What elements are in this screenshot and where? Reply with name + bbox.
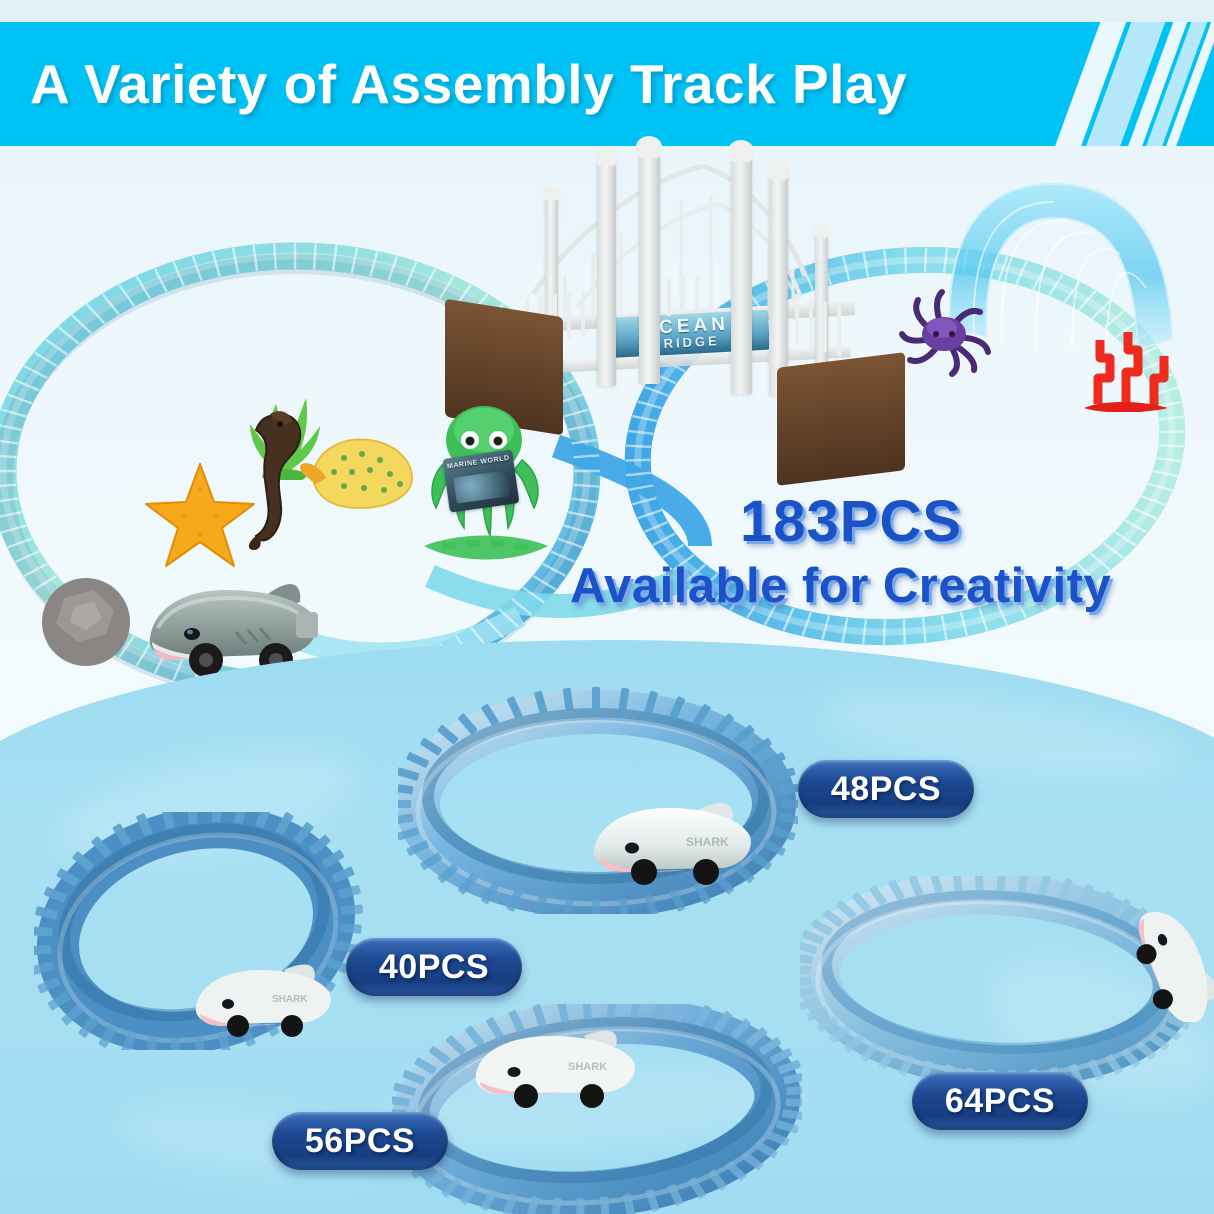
loop-64-shark-car — [1100, 902, 1214, 1022]
badge-40pcs-label: 40PCS — [379, 948, 489, 987]
loop-56-shark-decal: SHARK — [568, 1061, 607, 1073]
loop-56-shark-shape: SHARK — [468, 1022, 648, 1110]
loop-40-shark-car: SHARK — [188, 956, 338, 1038]
starfish-shape — [142, 460, 258, 572]
promo-piece-count: 183PCS — [740, 488, 962, 555]
ocean-bridge: OCEAN BRIDGE — [505, 148, 865, 448]
top-edge-strip — [0, 0, 1214, 22]
red-coral-figure — [1076, 322, 1178, 412]
promo-subtitle: Available for Creativity — [570, 558, 1111, 614]
loop-40-shark-shape: SHARK — [188, 956, 338, 1038]
badge-56pcs[interactable]: 56PCS — [272, 1112, 448, 1170]
green-octopus-figure: MARINE WORLD — [418, 396, 554, 574]
badge-64pcs-label: 64PCS — [945, 1082, 1055, 1121]
loop-56-shark-car: SHARK — [468, 1022, 648, 1110]
badge-40pcs[interactable]: 40PCS — [346, 938, 522, 996]
loop-48-shark-car: SHARK — [586, 794, 762, 886]
badge-64pcs[interactable]: 64PCS — [912, 1072, 1088, 1130]
loop-48-shark-decal: SHARK — [686, 835, 729, 849]
loop-64-shark-shape — [1100, 902, 1214, 1022]
loop-48-shark-shape: SHARK — [586, 794, 762, 886]
starfish-figure — [142, 460, 258, 572]
badge-56pcs-label: 56PCS — [305, 1122, 415, 1161]
marine-world-sticker: MARINE WORLD — [443, 449, 520, 512]
marine-world-sticker-text: MARINE WORLD — [443, 454, 513, 471]
stingray-figure — [300, 424, 420, 514]
loop-40-shark-decal: SHARK — [272, 994, 308, 1005]
bridge-pier-right — [777, 352, 905, 486]
stingray-shape — [300, 424, 420, 514]
badge-48pcs[interactable]: 48PCS — [798, 760, 974, 818]
red-coral-shape — [1076, 322, 1178, 412]
product-image-stage: A Variety of Assembly Track Play — [0, 0, 1214, 1214]
purple-octopus-figure — [888, 284, 1006, 380]
sticker-art — [453, 470, 510, 503]
badge-48pcs-label: 48PCS — [831, 770, 941, 809]
header-banner: A Variety of Assembly Track Play — [0, 22, 1214, 146]
banner-title: A Variety of Assembly Track Play — [30, 52, 907, 116]
purple-octopus-shape — [888, 284, 1006, 380]
